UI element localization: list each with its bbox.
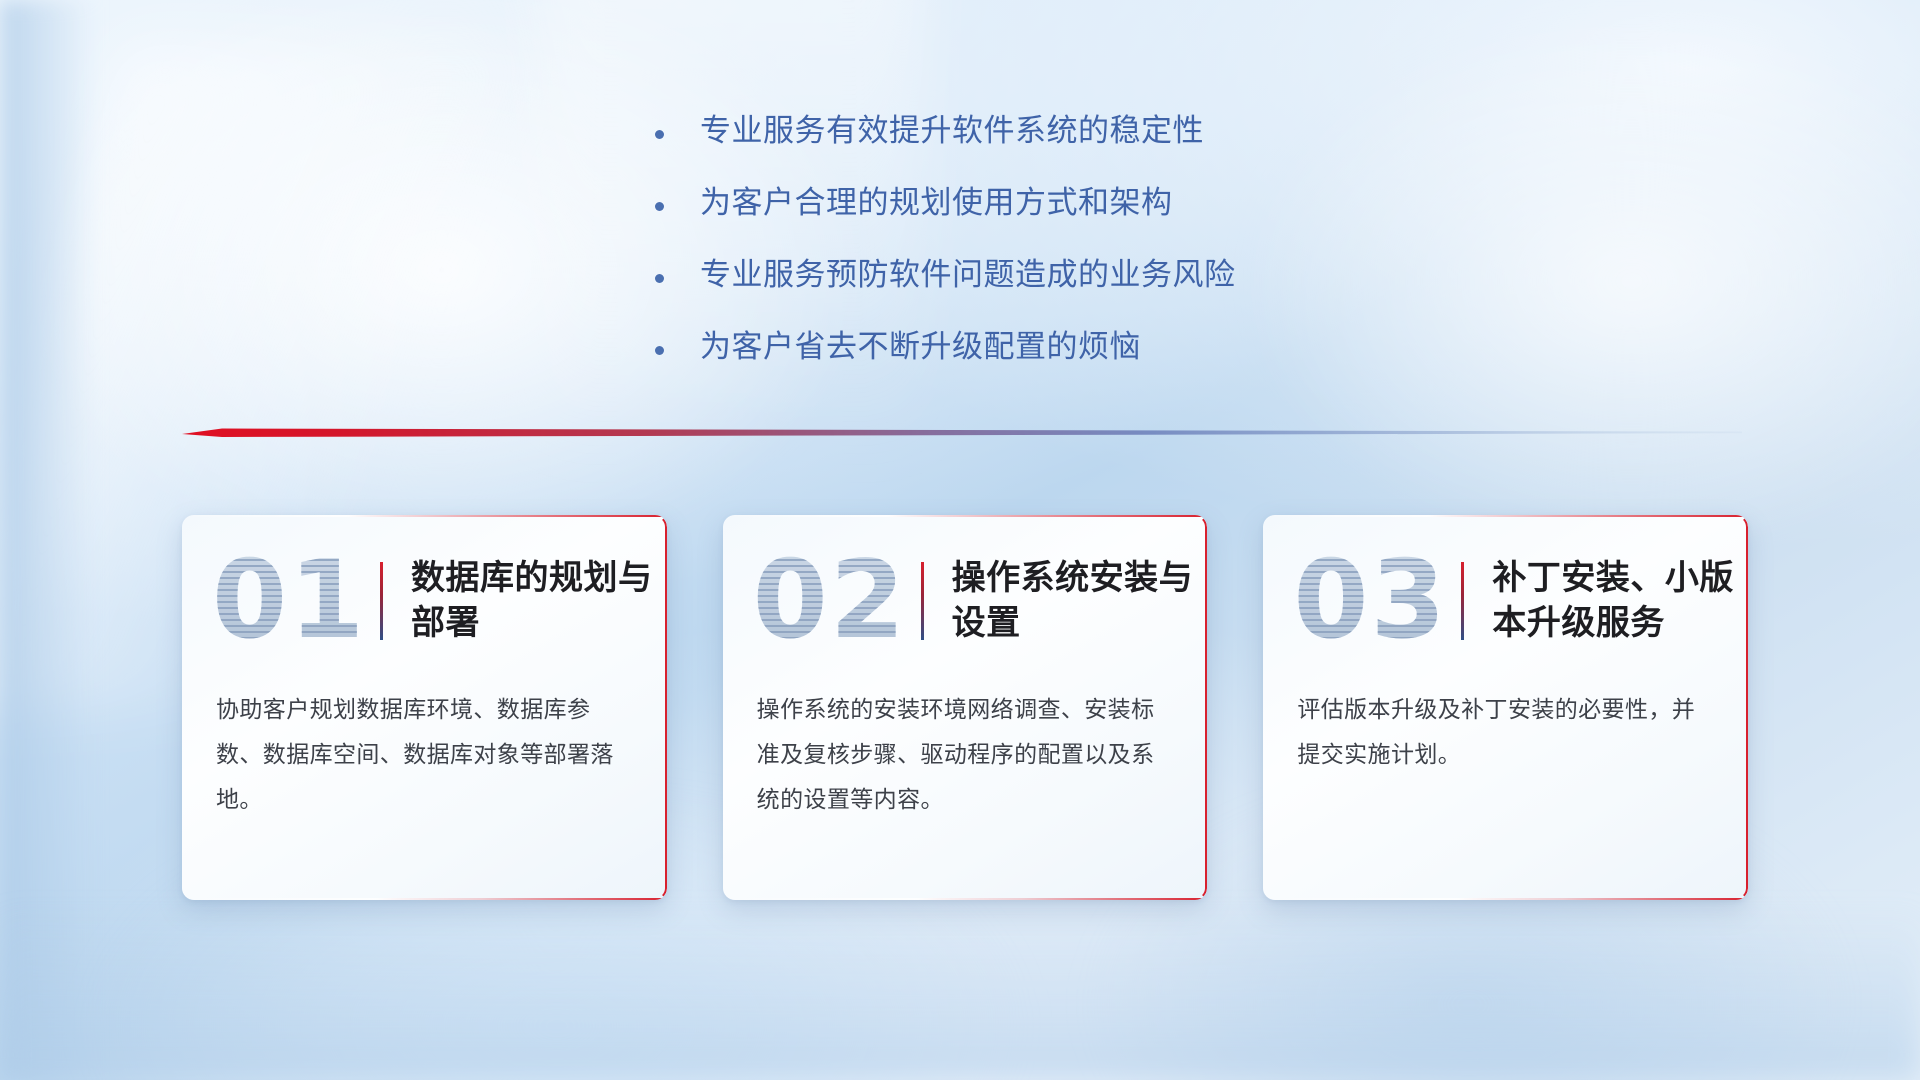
service-card-02[interactable]: 02 操作系统安装与设置 操作系统的安装环境网络调查、安装标准及复核步骤、驱动程… bbox=[723, 515, 1208, 900]
bullet-label: 专业服务预防软件问题造成的业务风险 bbox=[700, 254, 1236, 296]
card-number: 03 bbox=[1293, 547, 1461, 655]
bullet-item: 专业服务预防软件问题造成的业务风险 bbox=[655, 254, 1475, 296]
bullet-dot-icon bbox=[655, 130, 664, 139]
bullet-label: 为客户省去不断升级配置的烦恼 bbox=[700, 326, 1141, 368]
card-edge-bottom bbox=[723, 898, 1208, 900]
service-card-01[interactable]: 01 数据库的规划与部署 协助客户规划数据库环境、数据库参数、数据库空间、数据库… bbox=[182, 515, 667, 900]
bullet-dot-icon bbox=[655, 202, 664, 211]
divider-shape-icon bbox=[182, 420, 1742, 446]
service-card-row: 01 数据库的规划与部署 协助客户规划数据库环境、数据库参数、数据库空间、数据库… bbox=[182, 515, 1748, 900]
card-accent-bar bbox=[1461, 562, 1464, 640]
card-edge-bottom bbox=[182, 898, 667, 900]
card-edge-bottom bbox=[1263, 898, 1748, 900]
card-title: 操作系统安装与设置 bbox=[952, 556, 1202, 646]
bullet-dot-icon bbox=[655, 274, 664, 283]
card-accent-bar bbox=[380, 562, 383, 640]
service-card-03[interactable]: 03 补丁安装、小版本升级服务 评估版本升级及补丁安装的必要性，并提交实施计划。 bbox=[1263, 515, 1748, 900]
benefits-bullet-list: 专业服务有效提升软件系统的稳定性 为客户合理的规划使用方式和架构 专业服务预防软… bbox=[655, 110, 1475, 397]
card-body-text: 评估版本升级及补丁安装的必要性，并提交实施计划。 bbox=[1263, 687, 1748, 777]
card-number: 01 bbox=[212, 547, 380, 655]
card-body-text: 操作系统的安装环境网络调查、安装标准及复核步骤、驱动程序的配置以及系统的设置等内… bbox=[723, 687, 1208, 822]
card-body-text: 协助客户规划数据库环境、数据库参数、数据库空间、数据库对象等部署落地。 bbox=[182, 687, 667, 822]
bullet-item: 专业服务有效提升软件系统的稳定性 bbox=[655, 110, 1475, 152]
bullet-label: 专业服务有效提升软件系统的稳定性 bbox=[700, 110, 1204, 152]
card-title: 补丁安装、小版本升级服务 bbox=[1492, 556, 1742, 646]
card-header: 01 数据库的规划与部署 bbox=[182, 515, 667, 687]
section-divider bbox=[182, 420, 1742, 446]
card-number: 02 bbox=[753, 547, 921, 655]
bullet-label: 为客户合理的规划使用方式和架构 bbox=[700, 182, 1173, 224]
card-accent-bar bbox=[921, 562, 924, 640]
card-title: 数据库的规划与部署 bbox=[411, 556, 661, 646]
card-header: 03 补丁安装、小版本升级服务 bbox=[1263, 515, 1748, 687]
bullet-item: 为客户省去不断升级配置的烦恼 bbox=[655, 326, 1475, 368]
card-header: 02 操作系统安装与设置 bbox=[723, 515, 1208, 687]
background-band-bottom bbox=[0, 907, 1920, 1080]
bullet-item: 为客户合理的规划使用方式和架构 bbox=[655, 182, 1475, 224]
bullet-dot-icon bbox=[655, 346, 664, 355]
